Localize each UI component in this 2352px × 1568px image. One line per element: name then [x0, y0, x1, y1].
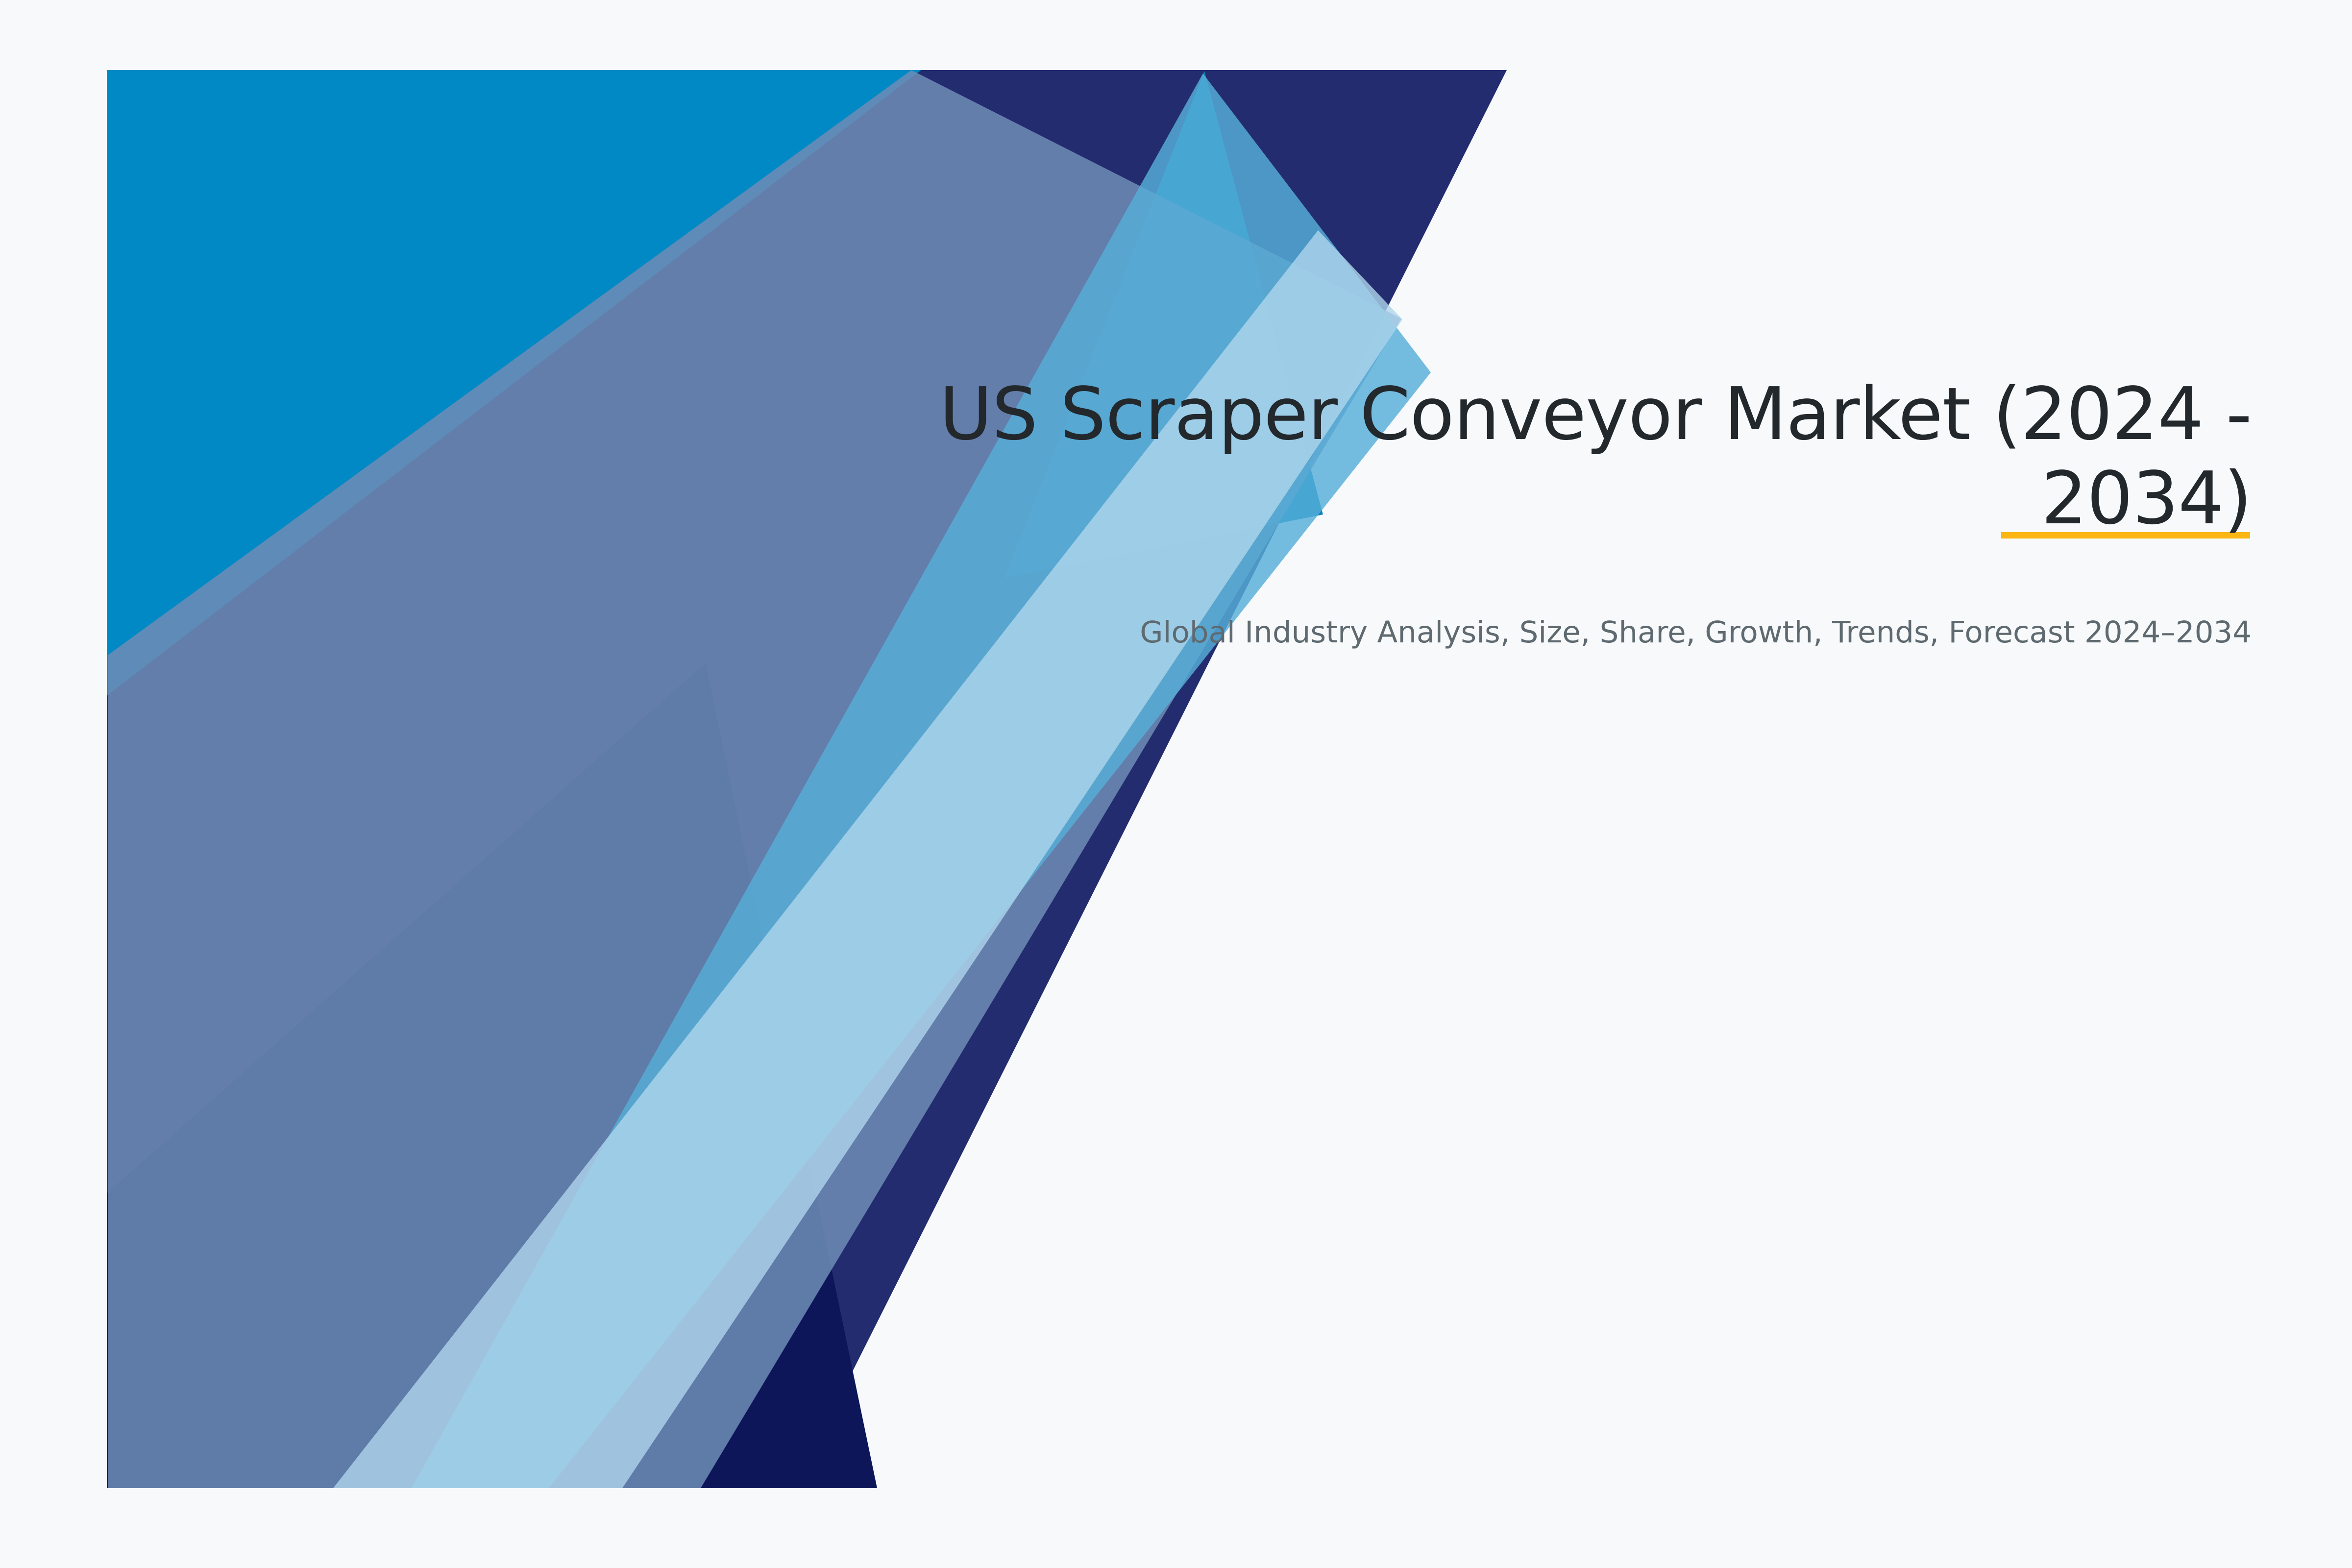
page-subtitle: Global Industry Analysis, Size, Share, G…: [833, 613, 2252, 652]
page-title: US Scraper Conveyor Market (2024 - 2034): [833, 372, 2252, 540]
abstract-polygon-artwork: [0, 0, 2352, 1568]
cover-page: US Scraper Conveyor Market (2024 - 2034)…: [0, 0, 2352, 1568]
cover-text-block: US Scraper Conveyor Market (2024 - 2034)…: [833, 372, 2252, 652]
